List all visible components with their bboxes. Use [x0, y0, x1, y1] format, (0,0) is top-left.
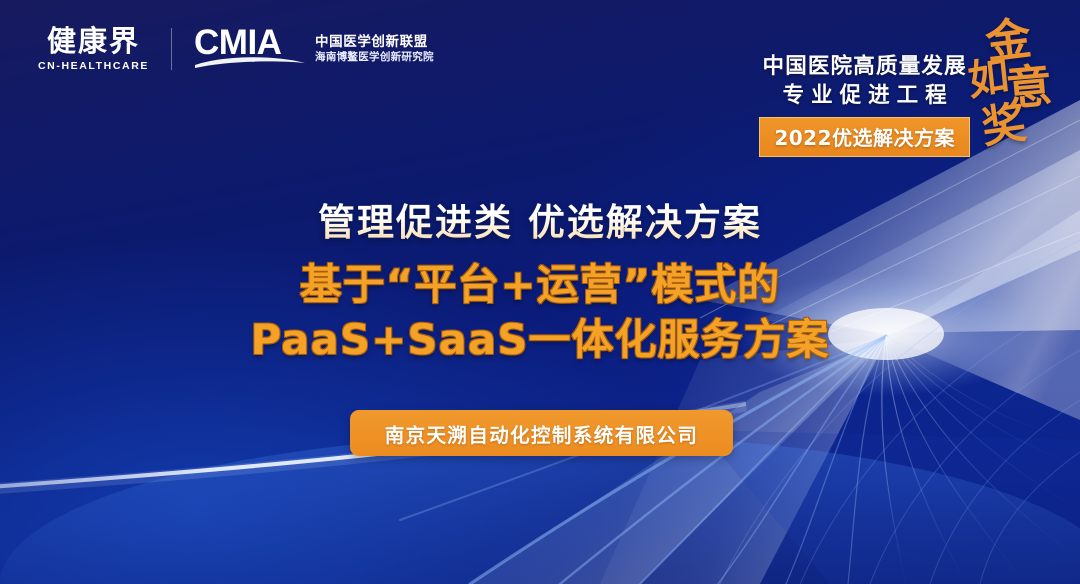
company-name-label: 南京天溯自动化控制系统有限公司 [385, 419, 699, 448]
headline-category: 管理促进类 优选解决方案 [318, 192, 762, 246]
cn-healthcare-cn-name: 健康界 [47, 27, 140, 56]
cmia-swoosh-icon [194, 54, 306, 70]
award-block: 中国医院高质量发展 专业促进工程 2022优选解决方案 金 如 意 奖 [759, 46, 1060, 157]
cmia-line2: 海南博鳌医学创新研究院 [315, 52, 434, 63]
company-name-badge: 南京天溯自动化控制系统有限公司 [350, 410, 733, 456]
logo-divider [171, 28, 172, 70]
cmia-wordmark-group: CMIA [194, 26, 306, 72]
award-title-line1: 中国医院高质量发展 [763, 54, 967, 81]
headline-main-line1: 基于“平台+运营”模式的 [300, 258, 780, 313]
logo-row: 健康界 CN-HEALTHCARE CMIA 中国医学创新联盟 海南博鳌医学创新… [38, 26, 434, 72]
award-text-group: 中国医院高质量发展 专业促进工程 2022优选解决方案 [759, 46, 970, 157]
calligraphy-seal-icon: 金 如 意 奖 [964, 12, 1060, 152]
award-badge: 2022优选解决方案 [759, 117, 970, 157]
cn-healthcare-en-name: CN-HEALTHCARE [38, 61, 149, 72]
headline-main-line2: PaaS+SaaS一体化服务方案 [251, 313, 830, 368]
award-poster: 健康界 CN-HEALTHCARE CMIA 中国医学创新联盟 海南博鳌医学创新… [0, 0, 1080, 584]
cn-healthcare-logo: 健康界 CN-HEALTHCARE [38, 27, 149, 72]
headline-block: 管理促进类 优选解决方案 基于“平台+运营”模式的 PaaS+SaaS一体化服务… [0, 192, 1080, 367]
seal-char-jiang: 奖 [979, 101, 1029, 151]
award-title-line2: 专业促进工程 [776, 81, 954, 110]
cmia-logo: CMIA 中国医学创新联盟 海南博鳌医学创新研究院 [194, 26, 434, 72]
cmia-subtitle-group: 中国医学创新联盟 海南博鳌医学创新研究院 [315, 36, 434, 63]
cmia-line1: 中国医学创新联盟 [315, 36, 434, 50]
